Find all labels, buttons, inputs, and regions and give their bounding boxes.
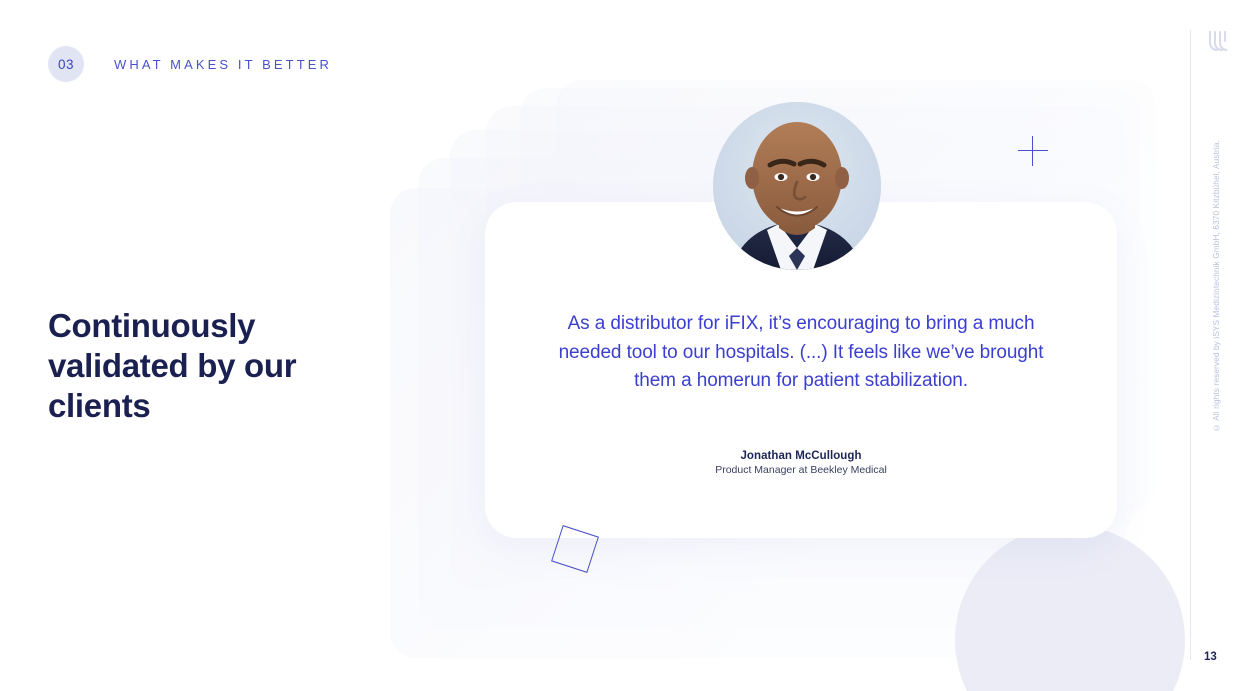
copyright-text: © All rights reserved by iSYS Medizintec… [1212,140,1221,432]
section-number-badge: 03 [48,46,84,82]
section-number: 03 [58,57,74,72]
plus-decoration-icon [1018,136,1048,166]
avatar [713,102,881,270]
author-name: Jonathan McCullough [543,450,1059,462]
page-title: Continuously validated by our clients [48,306,378,426]
section-label: WHAT MAKES IT BETTER [114,57,332,72]
brand-logo-icon [1203,26,1233,56]
author-role: Product Manager at Beekley Medical [543,464,1059,476]
testimonial-attribution: Jonathan McCullough Product Manager at B… [543,450,1059,476]
portrait-photo-illustration [713,102,881,270]
copyright-notice: © All rights reserved by iSYS Medizintec… [1206,140,1226,580]
testimonial-quote: As a distributor for iFIX, it’s encourag… [543,310,1059,396]
section-header: 03 WHAT MAKES IT BETTER [48,46,332,82]
soft-circle-decoration [955,525,1185,691]
slide-canvas: 03 WHAT MAKES IT BETTER Continuously val… [0,0,1240,691]
logo-glyph [1203,26,1233,56]
rail-divider [1190,30,1191,660]
page-number: 13 [1204,651,1217,663]
